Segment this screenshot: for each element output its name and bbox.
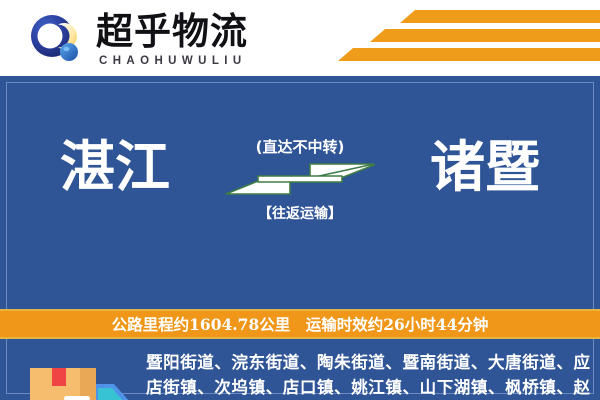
orange-diagonal-stripes-icon xyxy=(310,8,600,68)
bidirectional-arrow-icon xyxy=(222,162,378,196)
route-note-direct: (直达不中转) xyxy=(200,136,400,157)
brand-name-cn: 超乎物流 xyxy=(96,10,248,54)
stripe-2 xyxy=(370,29,600,42)
stripe-3 xyxy=(338,48,600,61)
distance-duration-text: 公路里程约1604.78公里 运输时效约26小时44分钟 xyxy=(0,311,600,337)
route-middle: (直达不中转) 【往返运输】 xyxy=(200,110,400,232)
route-row: 湛江 (直达不中转) 【往返运输】 诸暨 xyxy=(0,110,600,232)
delivery-truck-icon xyxy=(24,354,136,400)
destination-city: 诸暨 xyxy=(380,128,590,206)
main-blue-panel: 湛江 (直达不中转) 【往返运输】 诸暨 xyxy=(0,76,600,400)
route-note-roundtrip: 【往返运输】 xyxy=(200,203,400,223)
origin-city: 湛江 xyxy=(10,128,220,206)
stripe-1 xyxy=(400,10,600,23)
coverage-area-section: 暨阳街道、浣东街道、陶朱街道、暨南街道、大唐街道、应店街镇、次坞镇、店口镇、姚江… xyxy=(0,342,600,400)
banner-header: 超乎物流 CHAOHUWULIU xyxy=(0,0,600,76)
circle-crescent-logo-icon xyxy=(28,14,84,64)
logistics-route-banner: 超乎物流 CHAOHUWULIU 湛江 (直达不中转) xyxy=(0,0,600,400)
distance-duration-bar: 公路里程约1604.78公里 运输时效约26小时44分钟 xyxy=(0,309,600,339)
brand-name-en: CHAOHUWULIU xyxy=(99,55,247,67)
coverage-area-text: 暨阳街道、浣东街道、陶朱街道、暨南街道、大唐街道、应店街镇、次坞镇、店口镇、姚江… xyxy=(146,350,590,400)
